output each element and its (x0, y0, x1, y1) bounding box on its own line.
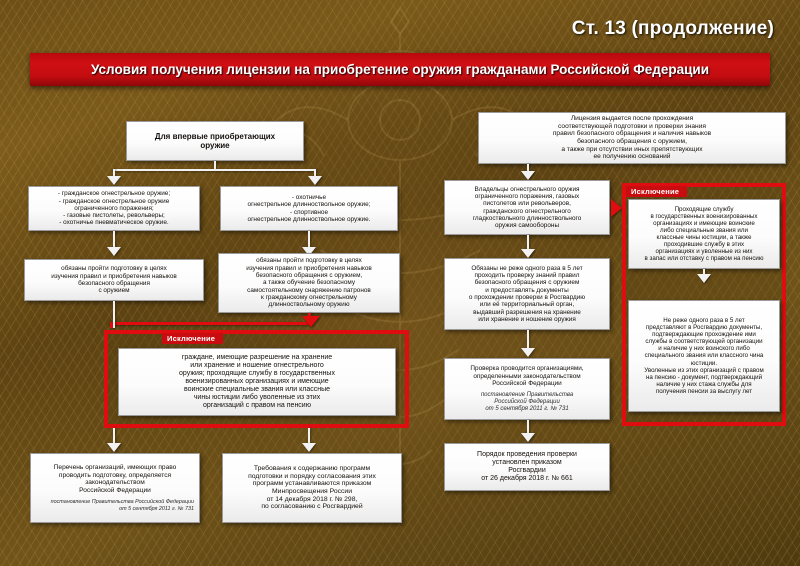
node-exception-right-bottom-text: Не реже одного раза в 5 лет представляют… (634, 317, 774, 395)
node-training-left: обязаны пройти подготовку в целях изучен… (24, 259, 204, 301)
connector-h-red-training (110, 322, 311, 325)
node-recheck-5y-text: Обязаны не реже одного раза в 5 лет прох… (450, 265, 604, 323)
arrow-to-weapon-types-long (308, 176, 322, 185)
node-program-requirements: Требования к содержанию программ подгото… (222, 453, 402, 523)
node-check-order-text: Порядок проведения проверки установлен п… (450, 451, 604, 483)
node-exception-right-bottom: Не реже одного раза в 5 лет представляют… (628, 300, 780, 412)
exception-label-right: Исключение (626, 186, 687, 197)
arrow-to-training-left (107, 247, 121, 256)
arrow-to-orgs-list (107, 443, 121, 452)
node-orgs-list-text: Перечень организаций, имеющих право пров… (36, 464, 194, 494)
node-orgs-list: Перечень организаций, имеющих право пров… (30, 453, 200, 523)
connector-v-recheck (527, 330, 529, 348)
connector-v-check-orgs (527, 420, 529, 434)
slide-root: Ст. 13 (продолжение) Условия получения л… (0, 0, 800, 566)
banner: Условия получения лицензии на приобретен… (30, 53, 770, 86)
arrow-right-to-exception (611, 199, 622, 217)
node-exception-left-text: граждане, имеющие разрешение на хранение… (124, 354, 390, 410)
node-training-mid-text: обязаны пройти подготовку в целях изучен… (224, 257, 394, 308)
connector-v-training-left (113, 301, 115, 328)
arrow-to-recheck (521, 249, 535, 258)
page-title: Ст. 13 (продолжение) (572, 18, 774, 40)
arrow-exc-right-down (697, 274, 711, 283)
arrow-red-to-exception-left (302, 316, 320, 327)
node-weapon-types-long-text: - охотничье огнестрельное длинноствольно… (226, 194, 392, 223)
node-license-issue: Лицензия выдается после прохождения соот… (478, 112, 786, 164)
node-check-orgs-note: постановление Правительства Российской Ф… (450, 392, 604, 412)
node-weapon-types-long: - охотничье огнестрельное длинноствольно… (220, 186, 398, 231)
connector-v-long (308, 231, 310, 247)
arrow-to-check-orgs (521, 348, 535, 357)
node-license-issue-text: Лицензия выдается после прохождения соот… (484, 115, 780, 160)
node-owners: Владельцы огнестрельного оружия ограниче… (444, 180, 610, 235)
node-training-left-text: обязаны пройти подготовку в целях изучен… (30, 265, 198, 294)
node-check-orgs: Проверка проводится организациями, опред… (444, 358, 610, 420)
node-check-orgs-text: Проверка проводится организациями, опред… (450, 365, 604, 387)
node-weapon-types-civil-text: - гражданское огнестрельное оружие; - гр… (34, 190, 194, 226)
connector-v-to-orgs-list (113, 428, 115, 444)
node-exception-right-top: Проходящие службу в государственных воен… (628, 199, 780, 269)
node-exception-right-top-text: Проходящие службу в государственных воен… (634, 206, 774, 263)
connector-h-buyers (113, 169, 316, 171)
node-training-mid: обязаны пройти подготовку в целях изучен… (218, 253, 400, 313)
connector-v-to-program (308, 428, 310, 444)
node-owners-text: Владельцы огнестрельного оружия ограниче… (450, 186, 604, 230)
node-orgs-list-note: постановление Правительства Российской Ф… (36, 499, 194, 511)
banner-title: Условия получения лицензии на приобретен… (91, 62, 709, 77)
connector-v-owners (527, 235, 529, 249)
arrow-to-check-order (521, 433, 535, 442)
node-weapon-types-civil: - гражданское огнестрельное оружие; - гр… (28, 186, 200, 231)
exception-label-left: Исключение (162, 333, 223, 344)
node-first-time-buyers: Для впервые приобретающих оружие (126, 121, 304, 161)
node-check-order: Порядок проведения проверки установлен п… (444, 443, 610, 491)
node-first-time-buyers-text: Для впервые приобретающих оружие (132, 132, 298, 150)
node-recheck-5y: Обязаны не реже одного раза в 5 лет прох… (444, 258, 610, 330)
arrow-to-owners (521, 171, 535, 180)
arrow-to-program-requirements (302, 443, 316, 452)
connector-v-civil (113, 231, 115, 247)
node-program-requirements-text: Требования к содержанию программ подгото… (228, 465, 396, 511)
arrow-to-weapon-types-civil (107, 176, 121, 185)
node-exception-left: граждане, имеющие разрешение на хранение… (118, 348, 396, 416)
